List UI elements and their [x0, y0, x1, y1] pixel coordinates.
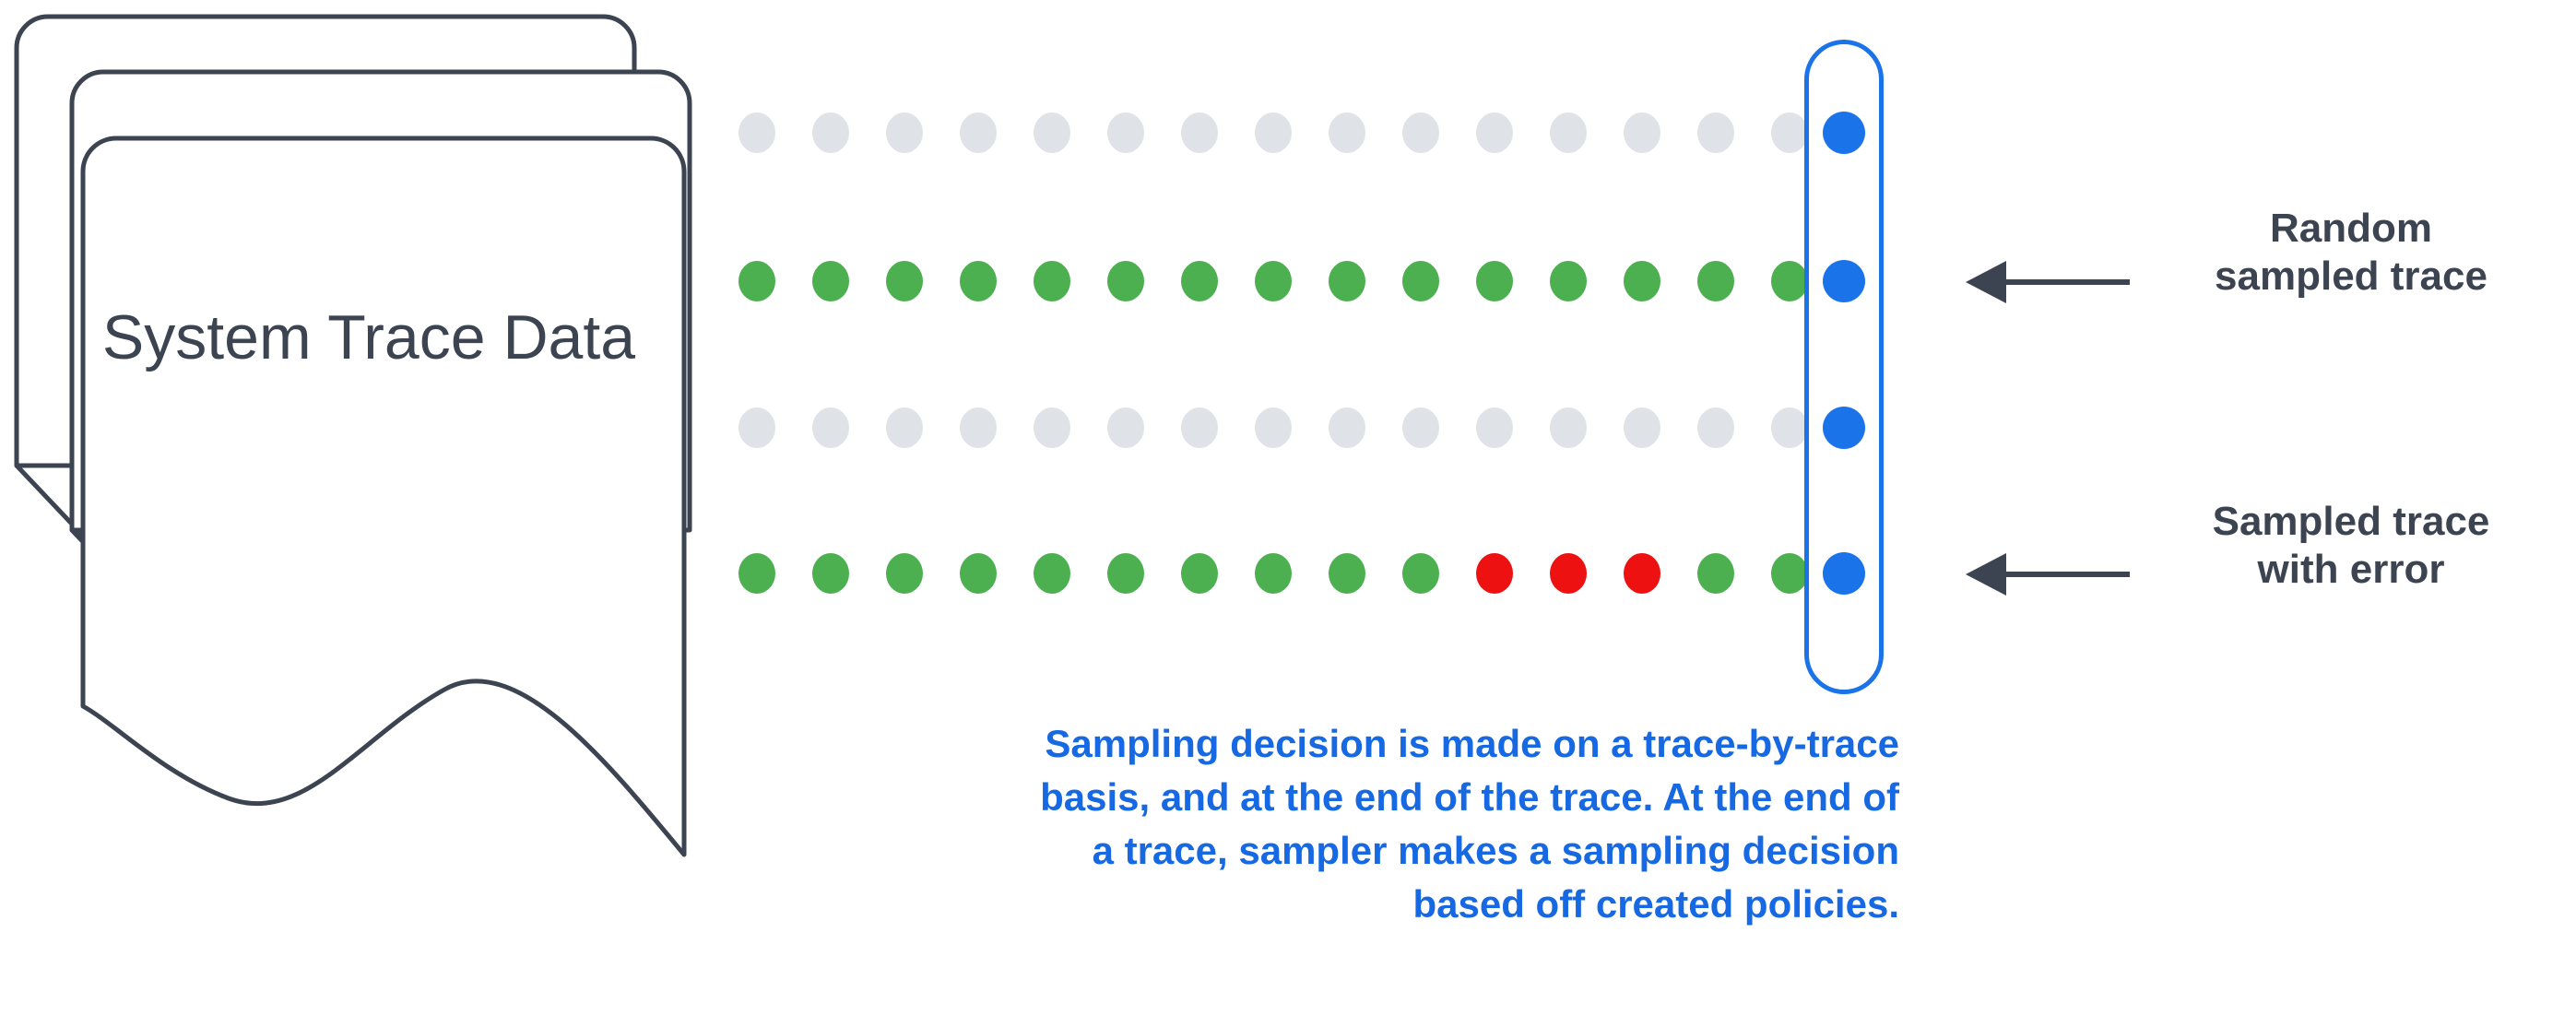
- trace-span-dot: [960, 407, 997, 448]
- trace-span-dot: [739, 112, 775, 153]
- trace-span-dot: [1476, 407, 1513, 448]
- trace-span-dot: [1107, 407, 1144, 448]
- caption-line: a trace, sampler makes a sampling decisi…: [728, 824, 1899, 878]
- trace-span-dot: [1624, 407, 1660, 448]
- caption-line: Sampling decision is made on a trace-by-…: [728, 717, 1899, 771]
- trace-span-dot: [1107, 261, 1144, 301]
- trace-span-dot: [1255, 261, 1292, 301]
- trace-span-dot: [739, 407, 775, 448]
- trace-span-dot: [1034, 553, 1070, 594]
- trace-span-dot: [812, 261, 849, 301]
- document-stack-svg: [0, 0, 738, 885]
- trace-span-dot: [1255, 407, 1292, 448]
- trace-span-dot: [1697, 407, 1734, 448]
- sampling-decision-caption: Sampling decision is made on a trace-by-…: [728, 717, 1899, 931]
- trace-span-dot: [1255, 112, 1292, 153]
- trace-span-dot: [1771, 553, 1808, 594]
- trace-span-dot: [1550, 407, 1587, 448]
- trace-span-dot: [1402, 407, 1439, 448]
- trace-span-dot: [1697, 553, 1734, 594]
- trace-span-dot: [739, 553, 775, 594]
- trace-span-dot: [1771, 407, 1808, 448]
- trace-span-dot: [739, 261, 775, 301]
- trace-span-dot: [886, 112, 923, 153]
- trace-span-dot: [1476, 261, 1513, 301]
- trace-span-dot: [1550, 112, 1587, 153]
- trace-span-dot: [960, 261, 997, 301]
- trace-span-dot: [1255, 553, 1292, 594]
- trace-span-dot: [1771, 112, 1808, 153]
- sampling-decision-capsule: [1804, 40, 1884, 694]
- trace-span-dot: [1329, 407, 1365, 448]
- trace-span-dot: [1181, 407, 1218, 448]
- trace-span-dot: [1329, 112, 1365, 153]
- trace-span-dot: [1550, 553, 1587, 594]
- trace-span-dot: [1402, 261, 1439, 301]
- trace-span-dot: [886, 553, 923, 594]
- system-trace-data-label: System Trace Data: [83, 304, 655, 372]
- trace-span-dot: [812, 407, 849, 448]
- trace-span-dot: [1034, 112, 1070, 153]
- trace-span-dot: [1476, 553, 1513, 594]
- trace-span-dot: [1034, 261, 1070, 301]
- system-trace-data-document-stack: System Trace Data: [0, 0, 738, 885]
- arrow-left-icon: [1964, 546, 2148, 603]
- caption-line: based off created policies.: [728, 878, 1899, 931]
- trace-span-dot: [1329, 553, 1365, 594]
- callout-sampled-trace-with-error-label: Sampled trace with error: [2148, 498, 2554, 594]
- diagram-canvas: System Trace Data Random sampled trace S…: [0, 0, 2576, 1027]
- trace-span-dot: [1771, 261, 1808, 301]
- trace-span-dot: [1107, 553, 1144, 594]
- trace-span-dot: [1107, 112, 1144, 153]
- trace-span-dot: [1329, 261, 1365, 301]
- trace-span-dot: [1181, 112, 1218, 153]
- document-card-front: [83, 138, 684, 855]
- trace-span-dot: [1550, 261, 1587, 301]
- trace-span-dot: [1697, 112, 1734, 153]
- trace-span-dot: [1034, 407, 1070, 448]
- trace-span-dot: [812, 553, 849, 594]
- caption-line: basis, and at the end of the trace. At t…: [728, 771, 1899, 824]
- trace-span-dot: [1402, 553, 1439, 594]
- trace-span-dot: [1624, 261, 1660, 301]
- trace-span-dot: [960, 553, 997, 594]
- trace-span-dot: [960, 112, 997, 153]
- arrow-left-icon: [1964, 254, 2148, 311]
- trace-span-dot: [1181, 553, 1218, 594]
- trace-span-dot: [812, 112, 849, 153]
- trace-span-dot: [1181, 261, 1218, 301]
- trace-span-dot: [1402, 112, 1439, 153]
- trace-span-dot: [886, 261, 923, 301]
- trace-span-dot: [886, 407, 923, 448]
- trace-span-dot: [1697, 261, 1734, 301]
- trace-span-dot: [1476, 112, 1513, 153]
- trace-span-dot: [1624, 553, 1660, 594]
- callout-random-sampled-trace-label: Random sampled trace: [2148, 205, 2554, 301]
- trace-span-dot: [1624, 112, 1660, 153]
